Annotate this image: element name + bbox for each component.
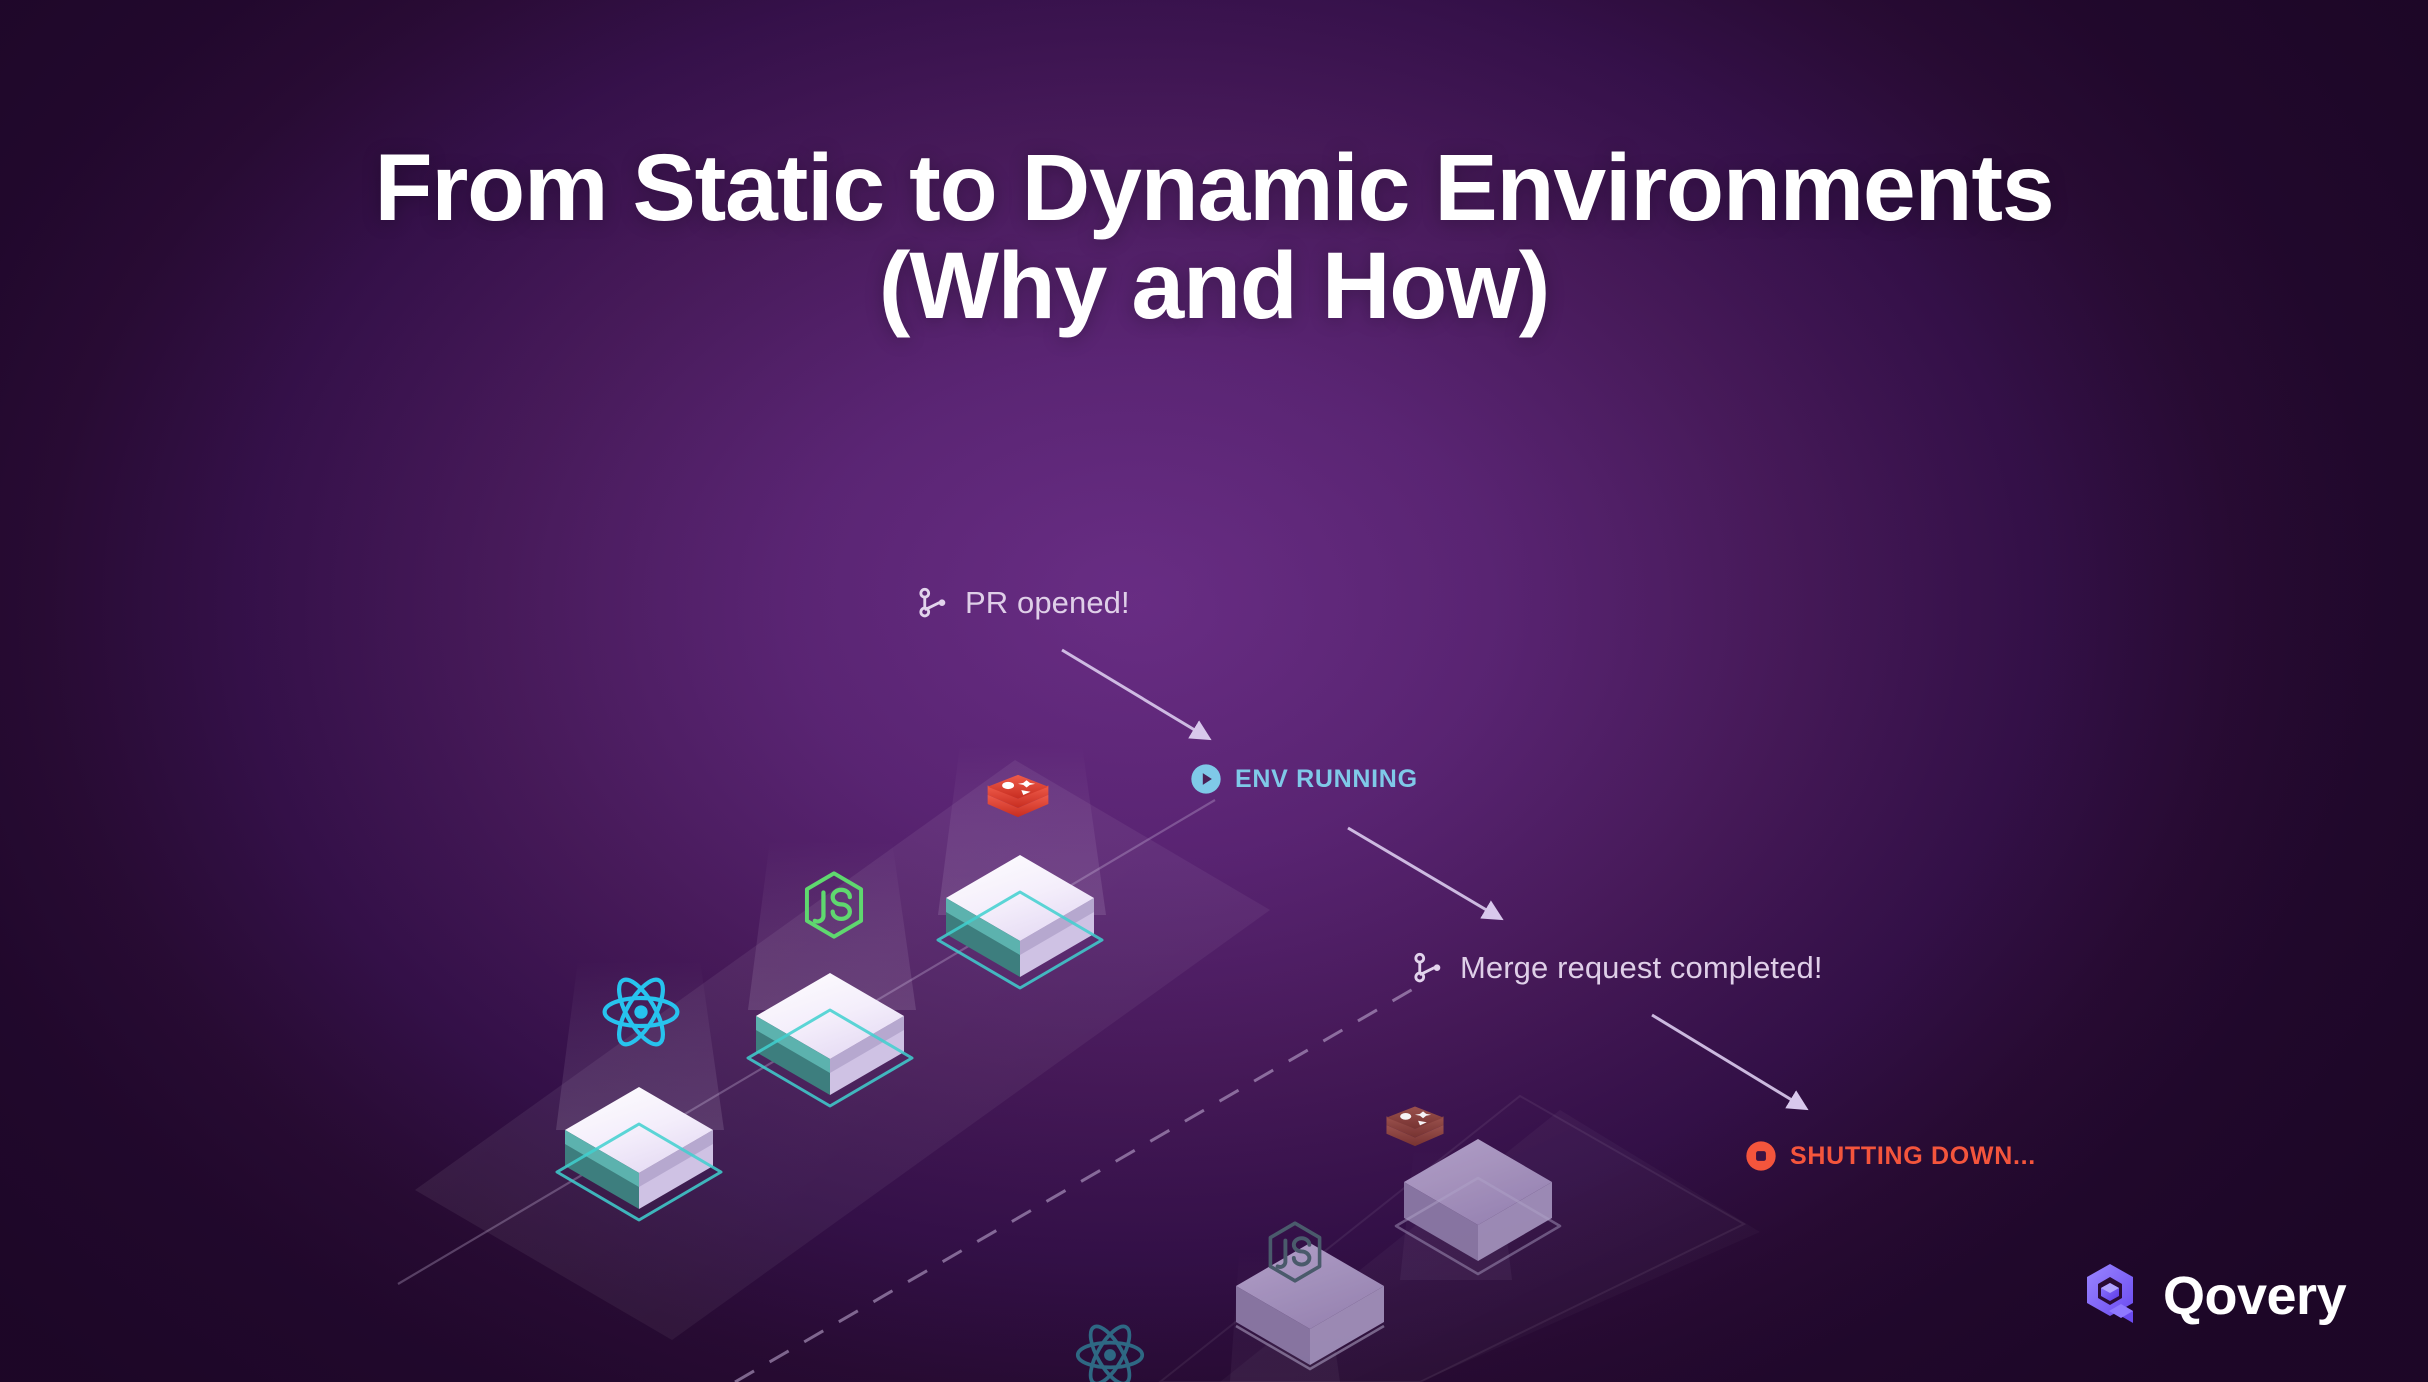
page-title: From Static to Dynamic Environments (Why… bbox=[0, 140, 2428, 336]
status-badge-label: ENV RUNNING bbox=[1235, 765, 1418, 794]
title-line-1: From Static to Dynamic Environments bbox=[375, 135, 2054, 241]
status-badge-shutting-down: SHUTTING DOWN... bbox=[1745, 1140, 2036, 1172]
retiring-service-icon-react bbox=[1078, 1321, 1142, 1382]
stop-circle-icon bbox=[1745, 1140, 1777, 1172]
qovery-logo: Qovery bbox=[2083, 1262, 2346, 1330]
slide-canvas: From Static to Dynamic Environments (Why… bbox=[0, 0, 2428, 1382]
title-line-2: (Why and How) bbox=[0, 238, 2428, 336]
arrow-pr-to-env-running bbox=[1062, 650, 1208, 738]
git-branch-icon bbox=[915, 585, 951, 621]
annotation-pr-opened: PR opened! bbox=[915, 585, 1130, 621]
play-circle-icon bbox=[1190, 763, 1222, 795]
retiring-environment bbox=[1078, 1040, 1760, 1382]
active-environment bbox=[398, 745, 1270, 1340]
status-badge-env-running: ENV RUNNING bbox=[1190, 763, 1418, 795]
status-badge-label: SHUTTING DOWN... bbox=[1790, 1142, 2036, 1171]
annotation-merge-request-completed: Merge request completed! bbox=[1410, 950, 1823, 986]
annotation-label: Merge request completed! bbox=[1460, 950, 1823, 986]
qovery-wordmark: Qovery bbox=[2163, 1269, 2346, 1323]
annotation-label: PR opened! bbox=[965, 585, 1130, 621]
qovery-hexagon-logo bbox=[2083, 1262, 2145, 1330]
arrow-env-running-to-merge bbox=[1348, 828, 1500, 918]
git-branch-icon bbox=[1410, 950, 1446, 986]
